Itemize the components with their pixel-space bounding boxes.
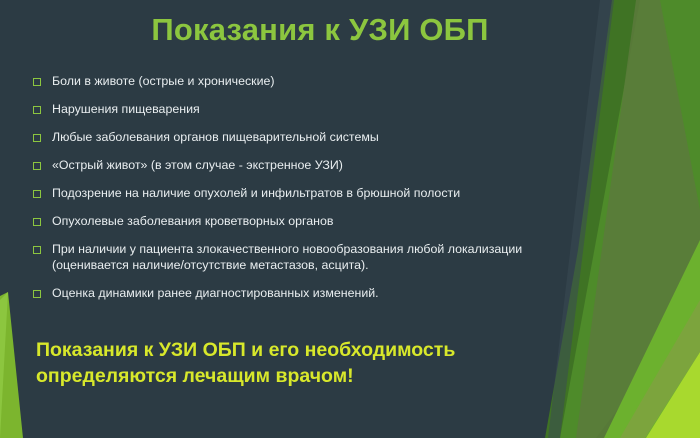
list-item-label: Оценка динамики ранее диагностированных … [52, 286, 379, 302]
deco-shape-right-band [620, 300, 700, 438]
hollow-square-bullet-icon [33, 190, 41, 198]
list-item: Любые заболевания органов пищеварительно… [33, 130, 633, 146]
list-item-label: Опухолевые заболевания кроветворных орга… [52, 214, 333, 230]
hollow-square-bullet-icon [33, 78, 41, 86]
list-item-label: Подозрение на наличие опухолей и инфильт… [52, 186, 460, 202]
hollow-square-bullet-icon [33, 246, 41, 254]
list-item-label: Любые заболевания органов пищеварительно… [52, 130, 379, 146]
list-item-label: При наличии у пациента злокачественного … [52, 242, 522, 273]
list-item: Оценка динамики ранее диагностированных … [33, 286, 633, 302]
list-item: Боли в животе (острые и хронические) [33, 74, 633, 90]
hollow-square-bullet-icon [33, 290, 41, 298]
list-item-label: Нарушения пищеварения [52, 102, 200, 118]
list-item: «Острый живот» (в этом случае - экстренн… [33, 158, 633, 174]
list-item: Опухолевые заболевания кроветворных орга… [33, 214, 633, 230]
emphasis-statement: Показания к УЗИ ОБП и его необходимость … [36, 337, 596, 389]
hollow-square-bullet-icon [33, 106, 41, 114]
list-item: Нарушения пищеварения [33, 102, 633, 118]
page-title: Показания к УЗИ ОБП [0, 12, 640, 48]
deco-shape-right-lime [646, 352, 700, 438]
list-item-label: Боли в животе (острые и хронические) [52, 74, 275, 90]
hollow-square-bullet-icon [33, 218, 41, 226]
list-item: Подозрение на наличие опухолей и инфильт… [33, 186, 633, 202]
hollow-square-bullet-icon [33, 162, 41, 170]
bullet-list: Боли в животе (острые и хронические) Нар… [33, 74, 633, 314]
slide-canvas: Показания к УЗИ ОБП Боли в животе (остры… [0, 0, 700, 438]
deco-shape-left-wedge-outer [0, 292, 8, 438]
deco-shape-left-wedge [0, 292, 23, 438]
list-item-label: «Острый живот» (в этом случае - экстренн… [52, 158, 343, 174]
list-item: При наличии у пациента злокачественного … [33, 242, 633, 273]
hollow-square-bullet-icon [33, 134, 41, 142]
